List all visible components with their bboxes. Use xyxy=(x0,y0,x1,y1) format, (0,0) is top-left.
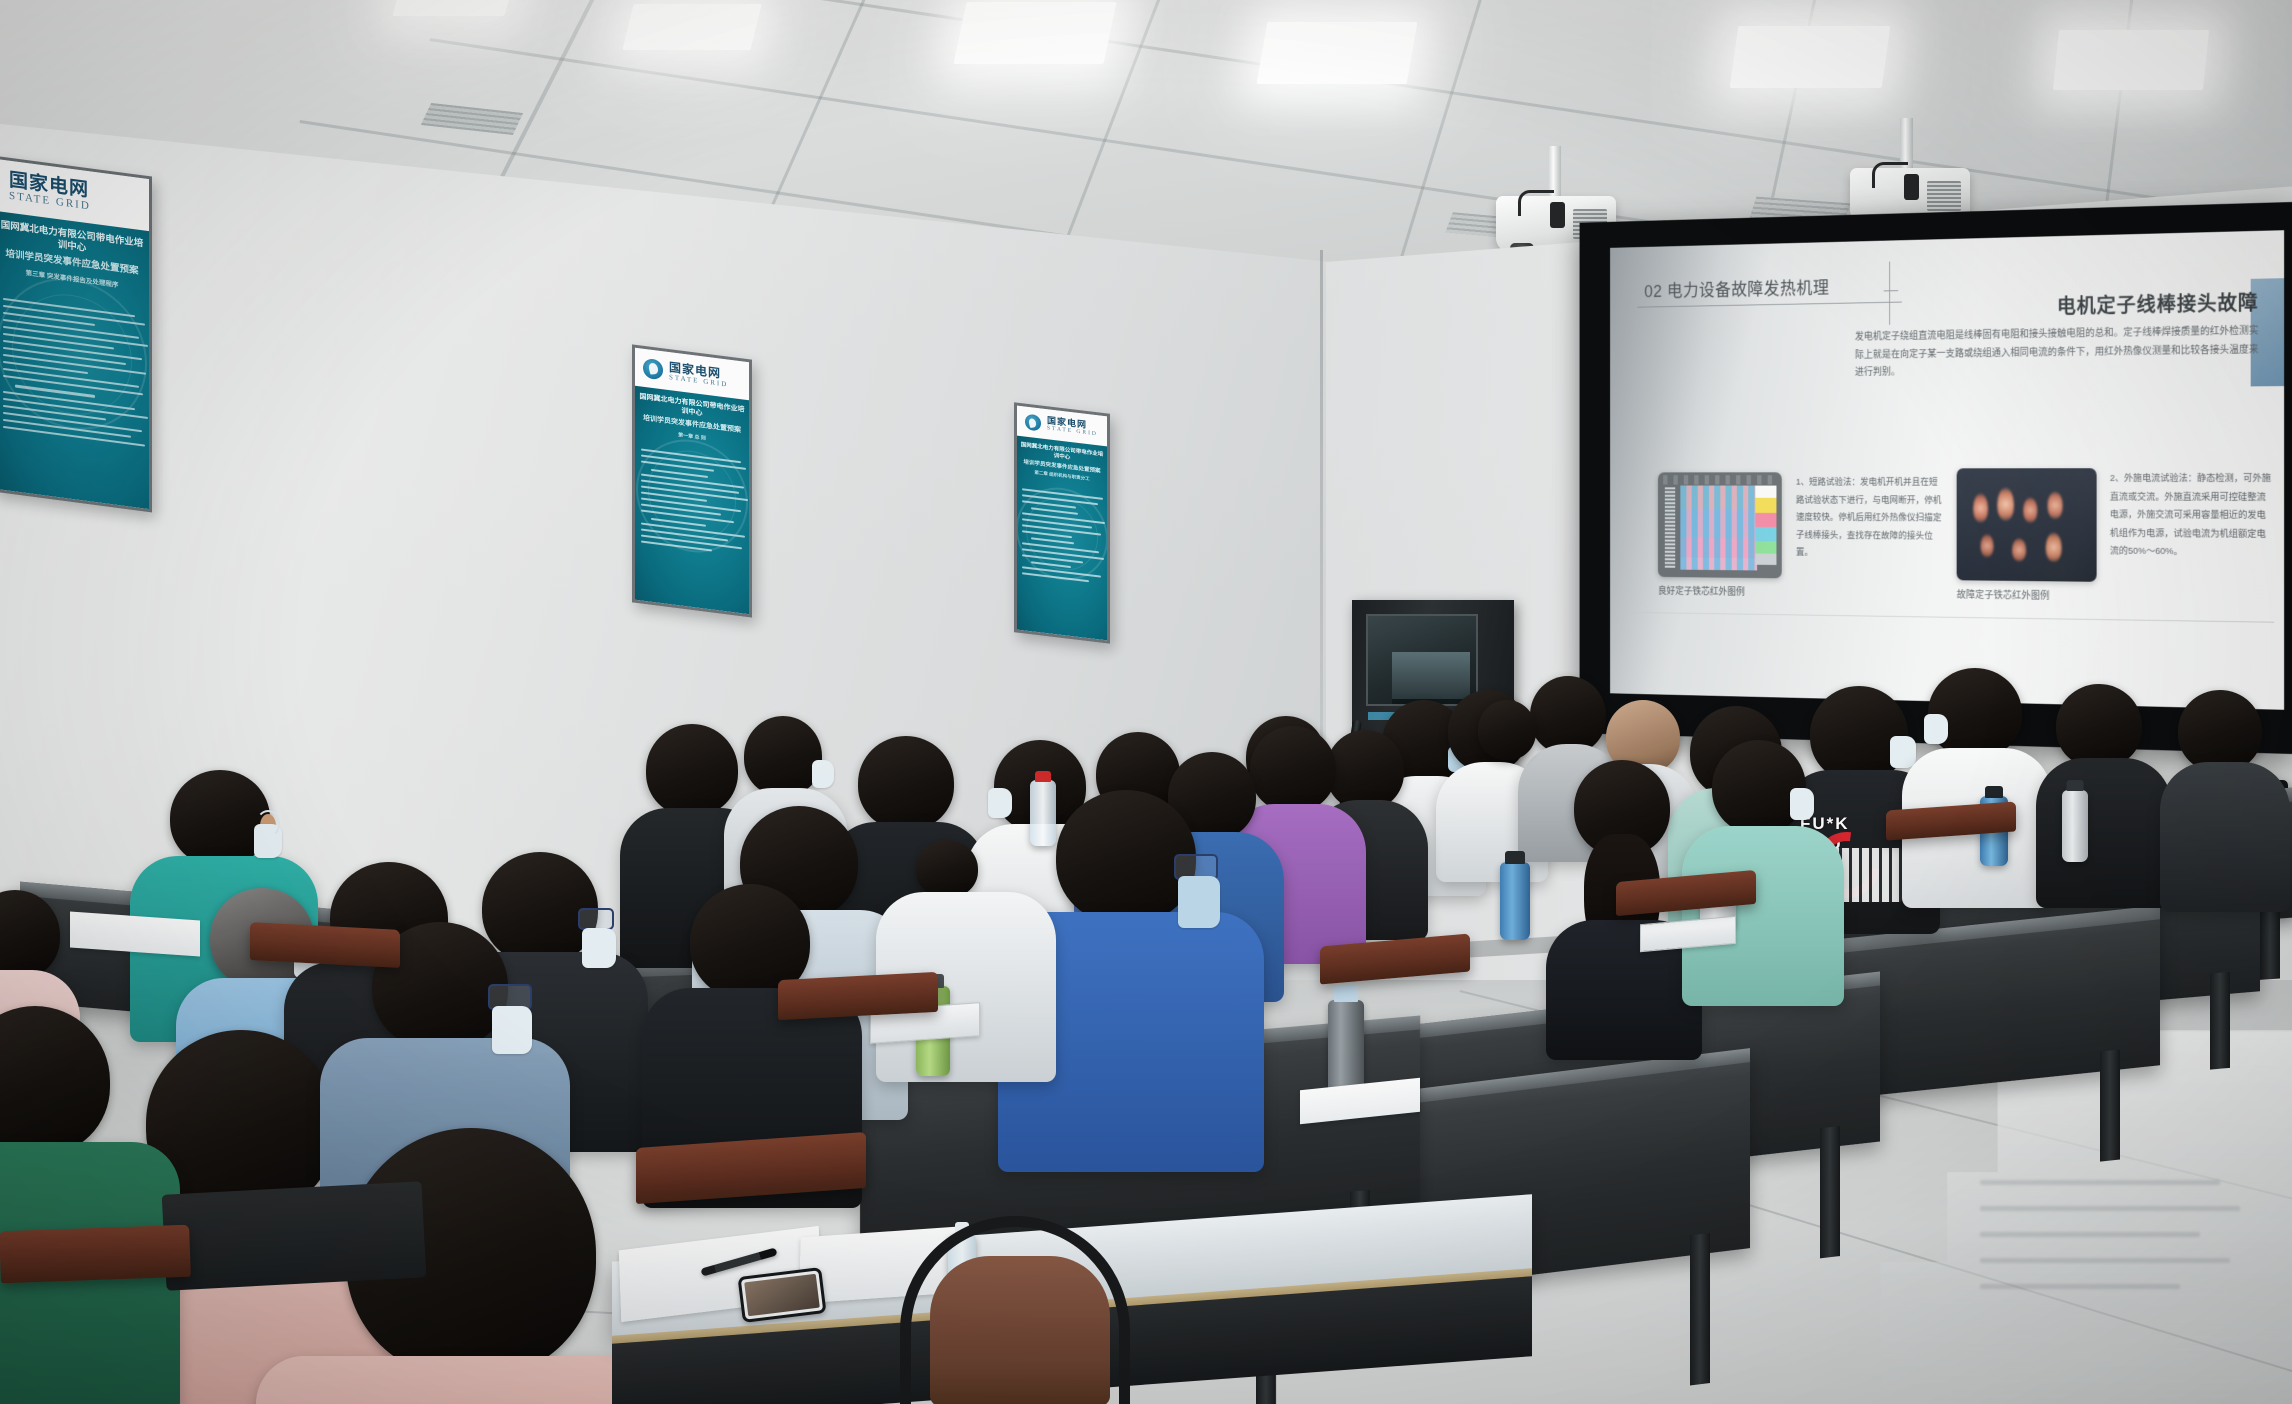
column-2-body: 静态检测，可外施直流或交流。外施直流采用可控硅整流电源，外施交流可采用容量相近的… xyxy=(2110,473,2271,557)
wall-poster-2[interactable]: 国家电网 STATE GRID 国网冀北电力有限公司带电作业培训中心 培训学员突… xyxy=(632,344,752,617)
projection-screen-surface: 02 电力设备故障发热机理 电机定子线棒接头故障 发电机定子绕组直流电阻是线棒固… xyxy=(1610,230,2284,710)
face-mask xyxy=(1890,736,1916,768)
face-mask xyxy=(1790,788,1814,820)
slide-section-rule xyxy=(1637,302,1901,308)
projector-cable xyxy=(1872,162,1908,188)
slide-column-2-text: 2、外施电流试验法：静态检测，可外施直流或交流。外施直流采用可控硅整流电源，外施… xyxy=(2110,470,2272,562)
slide-footer-rule xyxy=(1631,612,2275,623)
face-mask xyxy=(492,1006,532,1054)
ceiling-light xyxy=(1730,26,1891,88)
wall-poster-3[interactable]: 国家电网 STATE GRID 国网冀北电力有限公司带电作业培训中心 培训学员突… xyxy=(1014,402,1110,643)
bottle-cap xyxy=(1035,771,1051,782)
slide-section-label: 02 电力设备故障发热机理 xyxy=(1644,274,1829,302)
thermal-caption-good: 良好定子铁芯红外图例 xyxy=(1658,583,1745,598)
chair-back xyxy=(778,972,938,1020)
attendee-head xyxy=(1326,730,1404,810)
ceiling-light xyxy=(2053,30,2209,90)
face-mask xyxy=(1178,876,1220,928)
bottle-cap xyxy=(1505,851,1525,864)
desk-leg xyxy=(2100,1050,2120,1162)
red-label-bottle xyxy=(1030,780,1056,846)
thermal-image-good xyxy=(1658,472,1782,578)
attendee-head xyxy=(1530,676,1606,754)
water-bottle xyxy=(2062,790,2088,862)
ceiling-light xyxy=(622,4,761,50)
ceiling-vent xyxy=(421,103,523,135)
column-1-heading: 短路试验法： xyxy=(1809,477,1860,487)
attendee-head xyxy=(1928,668,2022,758)
attendee-head xyxy=(2056,684,2142,768)
eyeglasses xyxy=(578,908,614,930)
thermal-core-grid xyxy=(1680,485,1757,570)
bottle-cap xyxy=(1334,986,1358,1002)
classroom-photo-scene: 国家电网 STATE GRID 国网冀北电力有限公司带电作业培训中心 培训学员突… xyxy=(0,0,2292,1404)
attendee-head xyxy=(1712,740,1806,834)
face-mask xyxy=(988,788,1012,818)
water-bottle xyxy=(1500,862,1530,940)
desk-leg xyxy=(2210,972,2230,1070)
poster-body: 国网冀北电力有限公司带电作业培训中心 培训学员突发事件应急处置预案 第二章 组织… xyxy=(1017,436,1107,641)
slide-column-1-text: 1、短路试验法：发电机开机并且在短路试验状态下进行，与电网断开，停机速度较快。停… xyxy=(1796,474,1944,563)
slide-section-tick-h xyxy=(1884,290,1898,291)
bottle-cap xyxy=(2067,780,2084,791)
attendee-head xyxy=(2178,690,2262,772)
slide-body-paragraph: 发电机定子绕组直流电阻是线棒固有电阻和接头接触电阻的总和。定子线棒焊接质量的红外… xyxy=(1855,323,2259,383)
attendee-head xyxy=(858,736,954,830)
phone-screen xyxy=(744,1274,820,1317)
bottle-cap xyxy=(1985,786,2003,798)
projector-knob xyxy=(1904,174,1919,200)
ceiling-light xyxy=(392,0,515,16)
wall-poster-1[interactable]: 国家电网 STATE GRID 国网冀北电力有限公司带电作业培训中心 培训学员突… xyxy=(0,155,152,512)
projector-cable xyxy=(1518,190,1554,216)
ceiling-light xyxy=(953,2,1116,64)
mask-strap xyxy=(256,810,280,838)
thermal-caption-faulty: 故障定子铁芯红外图例 xyxy=(1957,586,2050,602)
attendee-head xyxy=(1478,700,1536,760)
chair-back-dark xyxy=(162,1181,427,1290)
attendee-head xyxy=(1250,726,1336,812)
face-mask xyxy=(812,760,834,788)
state-grid-logo-icon xyxy=(1025,414,1041,432)
column-1-body: 发电机开机并且在短路试验状态下进行，与电网断开，停机速度较快。停机后用红外热像仪… xyxy=(1796,477,1942,558)
column-1-number: 1、 xyxy=(1796,477,1809,487)
thermal-palette-bar xyxy=(1755,486,1776,565)
chair-back xyxy=(250,922,400,968)
thermal-image-header xyxy=(1663,475,1776,484)
control-monitor xyxy=(1392,652,1470,704)
desk-leg xyxy=(1690,1233,1710,1385)
slide-section-tick xyxy=(1889,262,1890,325)
state-grid-logo-icon xyxy=(643,358,663,381)
attendee-torso xyxy=(2036,758,2172,908)
face-mask xyxy=(582,928,616,968)
desk-leg xyxy=(1820,1126,1840,1258)
projector-knob xyxy=(1550,202,1565,228)
projector-vent xyxy=(1927,181,1961,211)
chair-cushion xyxy=(930,1256,1110,1404)
attendee-head xyxy=(916,840,978,898)
presentation-slide: 02 电力设备故障发热机理 电机定子线棒接头故障 发电机定子绕组直流电阻是线棒固… xyxy=(1610,230,2284,710)
projection-screen-frame: 02 电力设备故障发热机理 电机定子线棒接头故障 发电机定子绕组直流电阻是线棒固… xyxy=(1580,202,2292,754)
attendee-head xyxy=(744,716,822,796)
attendee-torso xyxy=(2160,762,2290,912)
thermal-image-faulty xyxy=(1957,468,2097,582)
ceiling-light xyxy=(1257,22,1418,84)
column-2-heading: 外施电流试验法： xyxy=(2124,473,2197,484)
face-mask xyxy=(1924,714,1948,744)
wall-corner xyxy=(1320,250,1323,810)
poster-body: 国网冀北电力有限公司带电作业培训中心 培训学员突发事件应急处置预案 第一章 总 … xyxy=(635,386,749,614)
slide-title: 电机定子线棒接头故障 xyxy=(2057,287,2259,319)
attendee-head xyxy=(646,724,738,816)
thermal-scale-icon xyxy=(1665,487,1675,567)
cabinet-glass-door[interactable] xyxy=(1366,614,1478,706)
poster-body: 国网冀北电力有限公司带电作业培训中心 培训学员突发事件应急处置预案 第三章 突发… xyxy=(0,211,149,509)
chair-back xyxy=(0,1225,191,1284)
column-2-number: 2、 xyxy=(2110,473,2124,484)
